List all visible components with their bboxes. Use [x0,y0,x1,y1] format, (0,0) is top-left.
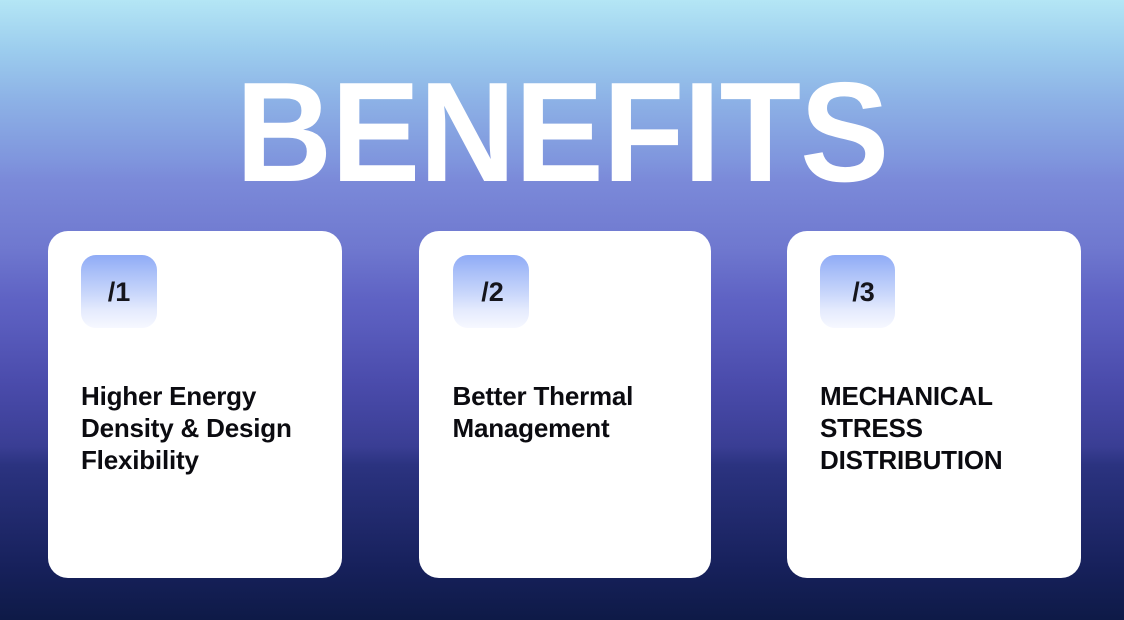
benefit-title-2: Better Thermal Management [453,380,678,444]
benefits-slide: BENEFITS /1 Higher Energy Density & Desi… [0,0,1124,620]
benefit-title-1: Higher Energy Density & Design Flexibili… [81,380,306,476]
benefit-badge-label-2: /2 [481,279,504,306]
benefit-badge-2: /2 [453,255,529,328]
benefit-badge-label-1: /1 [108,279,131,306]
page-title: BENEFITS [34,62,1091,204]
benefit-badge-label-3: /3 [852,279,875,306]
benefit-title-3: MECHANICAL STRESS DISTRIBUTION [820,380,1045,476]
benefit-badge-3: /3 [820,255,895,328]
benefit-card-2[interactable]: /2 Better Thermal Management [419,231,711,578]
benefit-card-1[interactable]: /1 Higher Energy Density & Design Flexib… [48,231,342,578]
benefit-badge-1: /1 [81,255,157,328]
benefit-cards-row: /1 Higher Energy Density & Design Flexib… [48,231,1081,578]
benefit-card-3[interactable]: /3 MECHANICAL STRESS DISTRIBUTION [787,231,1081,578]
